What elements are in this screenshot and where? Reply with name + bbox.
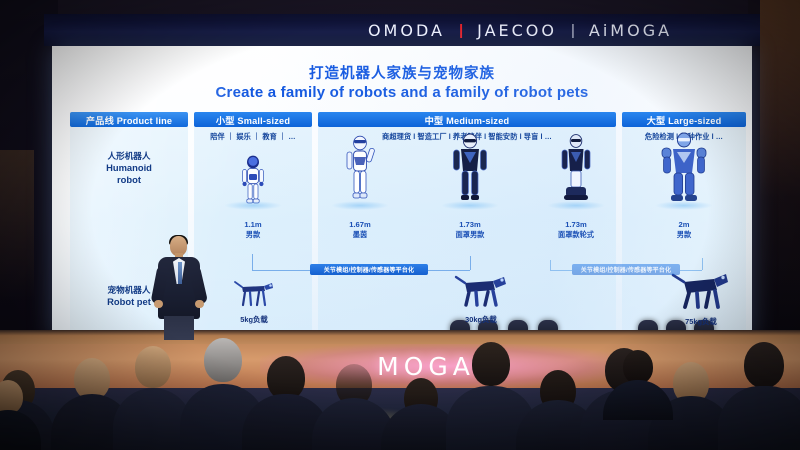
audience-member: [608, 350, 668, 420]
humanoid-height: 2m: [622, 220, 746, 230]
robot-pet-large: 75kg负载: [658, 272, 744, 327]
audience-member: [0, 380, 36, 450]
aimoga-logo: AiMOGA: [589, 21, 672, 40]
warm-light-left: [0, 150, 34, 300]
humanoid-spec-small: 1.1m 男款: [194, 220, 312, 240]
humanoid-figure-medium-2: [448, 133, 492, 212]
robot-pet-load: 5kg负载: [222, 314, 286, 325]
conference-photo: OMODA | JAECOO | AiMOGA 打造机器人家族与宠物家族 Cre…: [0, 0, 800, 450]
humanoid-spec-large: 2m 男款: [622, 220, 746, 240]
column-header-large: 大型 Large-sized: [622, 112, 746, 127]
humanoid-spec-medium-1: 1.67m 墨茵: [320, 220, 400, 240]
connector-line-horizontal-1: [252, 270, 310, 271]
platform-banner-1: 关节模组/控制器/传感器等平台化: [310, 264, 428, 275]
humanoid-figure-large: [658, 131, 710, 212]
robot-dog-icon: [452, 274, 510, 308]
column-header-product-line: 产品线 Product line: [70, 112, 188, 127]
brand-separator-red: |: [459, 22, 463, 39]
robot-dog-icon: [231, 278, 277, 308]
platform-banner-2: 关节模组/控制器/传感器等平台化: [572, 264, 680, 275]
robot-panther-icon: [670, 272, 732, 310]
robot-pet-medium: 30kg负载: [442, 274, 520, 325]
humanoid-variant: 面罩款轮式: [536, 230, 616, 240]
figure-pad: [547, 201, 605, 210]
figure-pad: [655, 201, 713, 210]
connector-line-large: [702, 258, 703, 270]
humanoid-figure-medium-1: [340, 135, 380, 212]
audience: [0, 330, 800, 450]
humanoid-height: 1.73m: [536, 220, 616, 230]
row-label-humanoid: 人形机器人 Humanoid robot: [70, 150, 188, 186]
humanoid-robot-wheeled-icon: [556, 133, 596, 207]
row-label-humanoid-en1: Humanoid: [70, 162, 188, 174]
humanoid-robot-icon: [658, 131, 710, 207]
figure-pad: [441, 201, 499, 210]
robot-pet-load: 30kg负载: [442, 314, 520, 325]
humanoid-robot-icon: [448, 133, 492, 207]
warm-light-right: [760, 0, 800, 330]
presenter: [156, 236, 202, 336]
presenter-tie: [178, 262, 182, 284]
connector-line-horizontal-2: [428, 270, 470, 271]
humanoid-spec-medium-3: 1.73m 面罩款轮式: [536, 220, 616, 240]
humanoid-robot-icon: [340, 135, 380, 207]
slide-title-cn: 打造机器人家族与宠物家族: [52, 62, 752, 83]
connector-line-horizontal-4: [680, 270, 702, 271]
presenter-hand-right: [195, 300, 204, 308]
humanoid-height: 1.67m: [320, 220, 400, 230]
humanoid-variant: 墨茵: [320, 230, 400, 240]
presenter-hand-left: [154, 300, 163, 308]
humanoid-figure-small: [236, 155, 270, 212]
audience-member: [318, 352, 390, 450]
humanoid-variant: 面罩男款: [430, 230, 510, 240]
slide-title-en: Create a family of robots and a family o…: [52, 84, 752, 101]
connector-line-medium: [470, 256, 471, 270]
humanoid-variant: 男款: [622, 230, 746, 240]
humanoid-variant: 男款: [194, 230, 312, 240]
connector-line-horizontal-3: [550, 270, 572, 271]
robot-pet-small: 5kg负载: [222, 278, 286, 325]
jaecoo-logo: JAECOO: [477, 21, 557, 40]
connector-line-medium-2: [550, 260, 551, 270]
omoda-logo: OMODA: [368, 21, 445, 40]
brand-logo-group: OMODA | JAECOO | AiMOGA: [368, 21, 672, 40]
humanoid-height: 1.73m: [430, 220, 510, 230]
figure-pad: [331, 201, 389, 210]
humanoid-group-small: [194, 142, 312, 220]
humanoid-height: 1.1m: [194, 220, 312, 230]
humanoid-group-medium: [318, 142, 616, 220]
figure-pad: [224, 201, 282, 210]
column-tags-small: 陪伴 ｜ 娱乐 ｜ 教育 ｜ …: [194, 132, 312, 142]
humanoid-spec-medium-2: 1.73m 面罩男款: [430, 220, 510, 240]
humanoid-robot-icon: [236, 155, 270, 207]
brand-bar: OMODA | JAECOO | AiMOGA: [44, 14, 760, 46]
connector-line-small: [252, 254, 253, 270]
humanoid-figure-medium-3: [556, 133, 596, 212]
column-header-medium: 中型 Medium-sized: [318, 112, 616, 127]
row-label-humanoid-en2: robot: [70, 174, 188, 186]
audience-member: [118, 344, 188, 450]
robot-pet-load: 75kg负载: [658, 316, 744, 327]
row-label-humanoid-cn: 人形机器人: [70, 150, 188, 162]
audience-member: [724, 340, 800, 450]
column-header-small: 小型 Small-sized: [194, 112, 312, 127]
humanoid-group-large: [622, 142, 746, 220]
brand-separator-white: |: [571, 22, 575, 39]
